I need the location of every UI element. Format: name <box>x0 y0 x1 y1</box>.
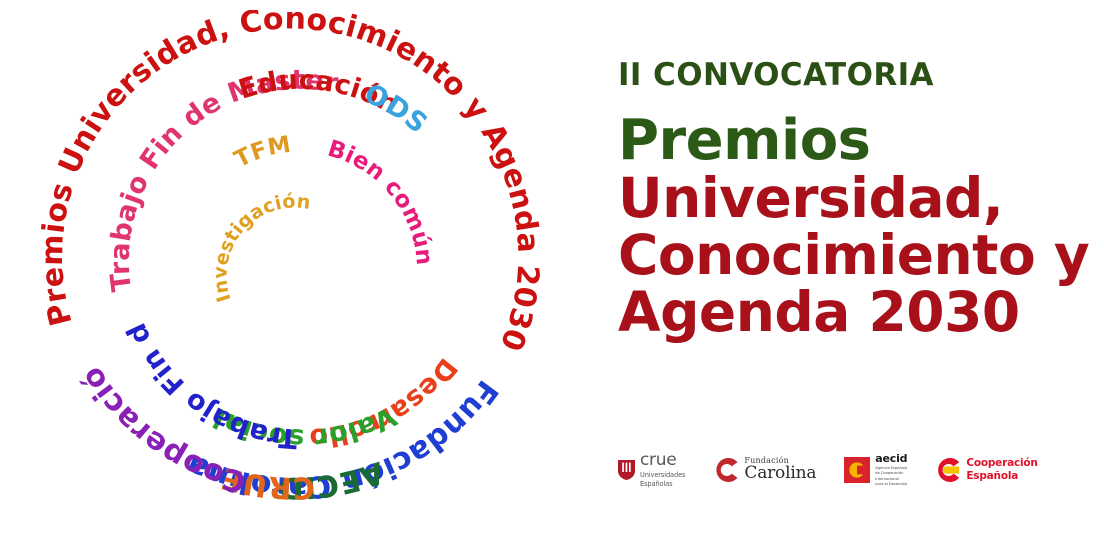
kicker-convocatoria: II CONVOCATORIA <box>618 60 934 91</box>
spiral-word-art: Premios Universidad, Conocimiento y Agen… <box>18 10 578 550</box>
crue-subtitle: Universidades Españolas <box>640 471 685 487</box>
aecid-logo[interactable]: aecid Agencia Española de Cooperación In… <box>844 448 907 492</box>
title-line-agenda-2030: Agenda 2030 <box>618 284 1088 340</box>
cooperacion-espanola-logo-text: Cooperación Española <box>966 457 1037 483</box>
crue-shield-icon <box>618 460 635 480</box>
cooperacion-line-1: Cooperación <box>966 457 1037 470</box>
fundacion-carolina-main: Carolina <box>744 465 816 483</box>
aecid-logo-text: aecid Agencia Española de Cooperación In… <box>875 453 907 487</box>
spiral-word-investigacion: Investigación <box>209 190 311 304</box>
spiral-word-bien-comun: Bien común <box>325 136 438 267</box>
fundacion-carolina-logo-text: Fundación Carolina <box>744 457 816 483</box>
carolina-c-icon <box>713 457 739 483</box>
spiral-textpath: Premios Universidad, Conocimiento y Agen… <box>35 10 546 356</box>
poster-canvas: Premios Universidad, Conocimiento y Agen… <box>0 0 1104 558</box>
sponsor-logo-bar: crue Universidades Españolas Fundación C… <box>618 440 1088 500</box>
right-panel: II CONVOCATORIA Premios Universidad, Con… <box>618 0 1088 558</box>
spiral-word-premios-universidad: Premios Universidad, Conocimiento y Agen… <box>35 10 546 356</box>
title-line-premios: Premios <box>618 112 1088 169</box>
aecid-subtitle: Agencia Española de Cooperación Internac… <box>875 466 907 487</box>
spiral-textpath: Investigación <box>209 190 311 304</box>
aecid-spain-icon <box>844 457 870 483</box>
spiral-word-tfm: TFM <box>231 132 293 173</box>
crue-logo-text: crue Universidades Españolas <box>640 452 685 487</box>
cooperacion-line-2: Española <box>966 470 1037 483</box>
crue-wordmark: crue <box>640 452 685 469</box>
aecid-subtitle-line-4: para el Desarrollo <box>875 482 907 487</box>
crue-subtitle-line-2: Españolas <box>640 480 685 488</box>
aecid-wordmark: aecid <box>875 453 907 464</box>
title-line-universidad: Universidad, <box>618 170 1088 226</box>
spiral-word-ods: ODS <box>360 78 434 140</box>
cooperacion-espanola-logo[interactable]: Cooperación Española <box>935 448 1037 492</box>
spiral-svg: Premios Universidad, Conocimiento y Agen… <box>18 10 578 550</box>
spiral-textpath: TFM <box>231 132 293 173</box>
fundacion-carolina-logo[interactable]: Fundación Carolina <box>713 448 816 492</box>
page-title: Premios Universidad, Conocimiento y Agen… <box>618 112 1088 341</box>
spiral-textpath: Bien común <box>325 136 438 267</box>
crue-subtitle-line-1: Universidades <box>640 471 685 479</box>
aecid-subtitle-line-2: de Cooperación <box>875 471 907 476</box>
crue-logo[interactable]: crue Universidades Españolas <box>618 448 685 492</box>
cooperacion-c-icon <box>935 457 961 483</box>
spiral-textpath: ODS <box>360 78 434 140</box>
title-line-conocimiento: Conocimiento y <box>618 227 1088 283</box>
